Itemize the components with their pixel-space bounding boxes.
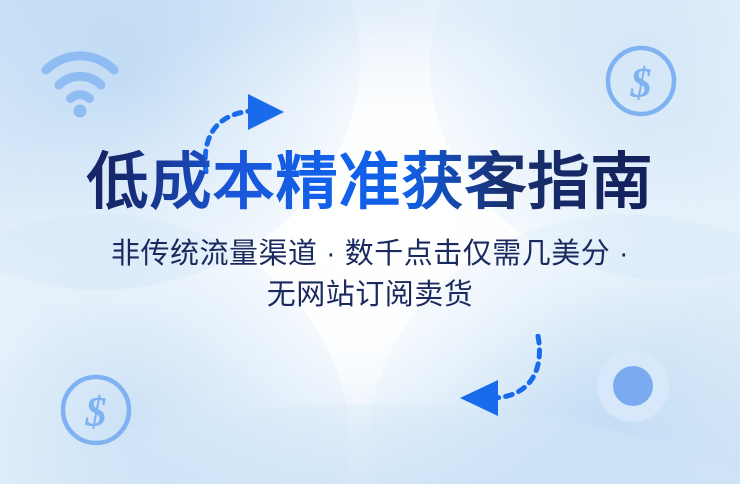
dashed-arrow-left-icon — [452, 334, 548, 418]
banner-subtitle-line-2: 无网站订阅卖货 — [75, 275, 665, 316]
dollar-circle-icon-secondary: $ — [58, 372, 134, 448]
banner-headline: 低成本精准获客指南 — [0, 150, 740, 216]
svg-text:$: $ — [85, 390, 107, 436]
dot-circle-icon — [594, 347, 672, 425]
dollar-circle-icon: $ — [603, 43, 679, 119]
banner-subtitle-line-1: 非传统流量渠道 · 数千点击仅需几美分 · — [75, 234, 665, 275]
background-tint-bottom — [0, 404, 740, 484]
svg-text:$: $ — [630, 61, 652, 107]
promo-banner: $ $ 低成本精准获客指南 非传统流量渠道 · 数千点击仅需几美分 · 无网站订… — [0, 0, 740, 484]
banner-subtitle: 非传统流量渠道 · 数千点击仅需几美分 · 无网站订阅卖货 — [75, 234, 665, 316]
banner-text-block: 低成本精准获客指南 非传统流量渠道 · 数千点击仅需几美分 · 无网站订阅卖货 — [0, 150, 740, 316]
wifi-icon — [38, 42, 122, 120]
